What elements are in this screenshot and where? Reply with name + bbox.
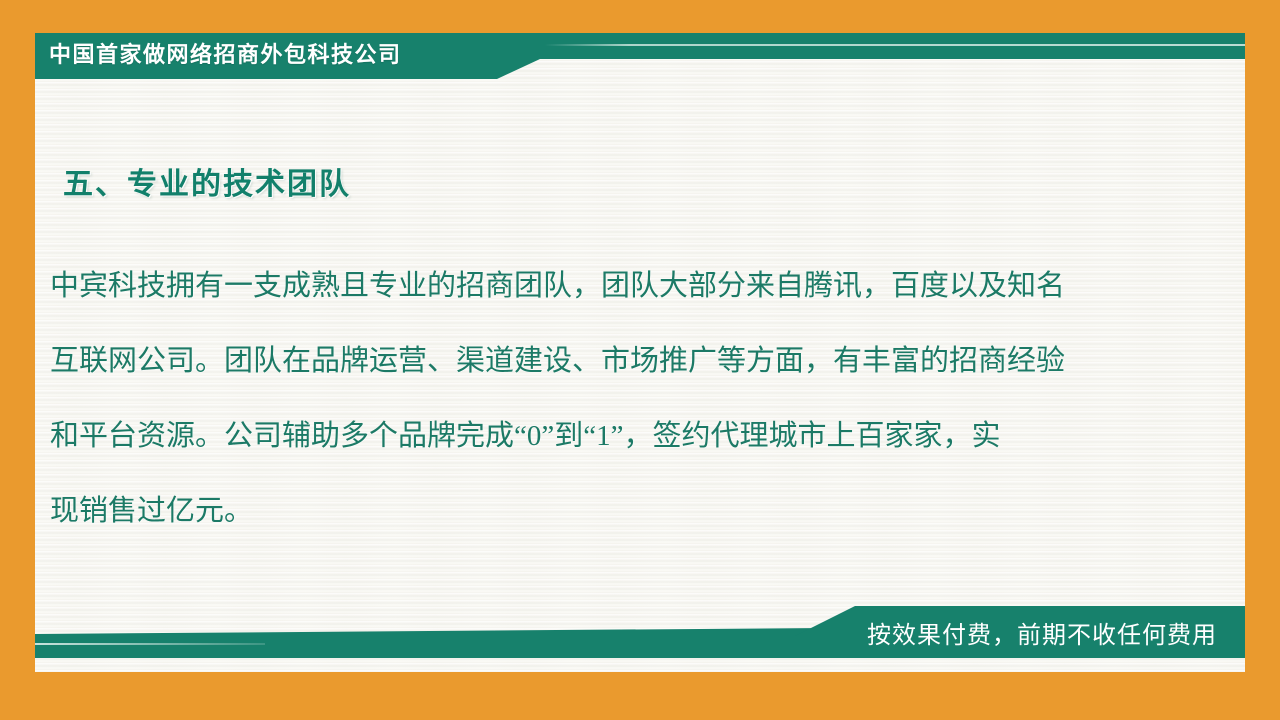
section-heading: 五、专业的技术团队 xyxy=(63,159,351,203)
header-banner-hairline xyxy=(545,44,1245,46)
header-banner-block xyxy=(35,33,540,79)
footer-banner: 按效果付费，前期不收任何费用 xyxy=(35,600,1245,672)
body-line: 互联网公司。团队在品牌运营、渠道建设、市场推广等方面，有丰富的招商经验 xyxy=(50,324,1210,399)
header-banner-stripe xyxy=(495,33,1245,59)
body-paragraph: 中宾科技拥有一支成熟且专业的招商团队，团队大部分来自腾讯，百度以及知名 互联网公… xyxy=(50,249,1210,549)
header-title: 中国首家做网络招商外包科技公司 xyxy=(49,33,402,79)
body-line: 中宾科技拥有一支成熟且专业的招商团队，团队大部分来自腾讯，百度以及知名 xyxy=(50,249,1210,324)
footer-banner-stripe xyxy=(35,628,825,658)
footer-banner-block xyxy=(695,606,1245,658)
body-line: 现销售过亿元。 xyxy=(50,474,1210,549)
footer-banner-hairline xyxy=(35,643,265,645)
footer-tagline: 按效果付费，前期不收任何费用 xyxy=(867,615,1217,650)
body-line: 和平台资源。公司辅助多个品牌完成“0”到“1”，签约代理城市上百家家，实 xyxy=(50,399,1210,474)
header-banner: 中国首家做网络招商外包科技公司 xyxy=(35,33,1245,79)
slide-canvas: 中国首家做网络招商外包科技公司 五、专业的技术团队 中宾科技拥有一支成熟且专业的… xyxy=(0,0,1280,720)
slide-content-area: 中国首家做网络招商外包科技公司 五、专业的技术团队 中宾科技拥有一支成熟且专业的… xyxy=(35,33,1245,672)
